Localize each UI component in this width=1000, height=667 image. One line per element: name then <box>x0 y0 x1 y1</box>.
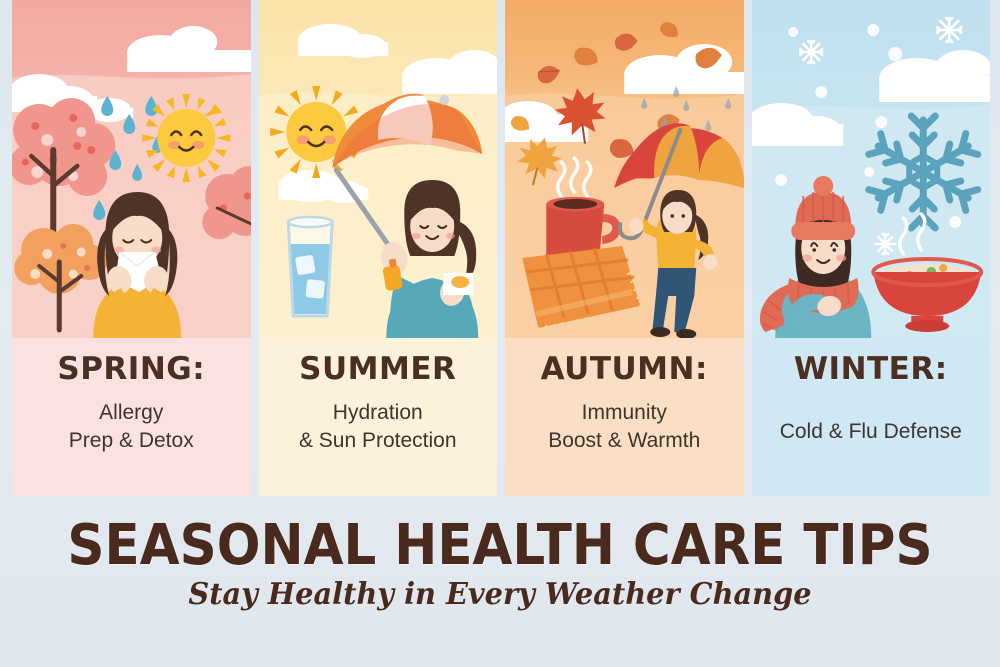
season-desc-autumn-line2: Boost & Warmth <box>548 429 700 452</box>
season-desc-autumn: Immunity Boost & Warmth <box>505 399 744 455</box>
page-title: SEASONAL HEALTH CARE TIPS <box>40 518 960 574</box>
panel-winter: WINTER: Cold & Flu Defense <box>752 0 991 496</box>
seasonal-health-infographic: SPRING: Allergy Prep & Detox <box>0 0 1000 667</box>
summer-caption: SUMMER Hydration & Sun Protection <box>259 338 498 496</box>
summer-illustration <box>259 0 498 338</box>
season-title-summer: SUMMER <box>259 354 498 385</box>
spring-illustration <box>12 0 251 338</box>
panel-spring: SPRING: Allergy Prep & Detox <box>12 0 251 496</box>
title-block: SEASONAL HEALTH CARE TIPS Stay Healthy i… <box>0 496 1000 667</box>
season-desc-winter: Cold & Flu Defense <box>752 418 991 446</box>
season-desc-autumn-line1: Immunity <box>582 401 667 424</box>
season-desc-spring-line1: Allergy <box>99 401 163 424</box>
smiling-sun-icon <box>142 94 230 182</box>
page-subtitle: Stay Healthy in Every Weather Change <box>20 580 980 610</box>
season-desc-spring: Allergy Prep & Detox <box>12 399 251 455</box>
glass-of-ice-water-icon <box>288 217 332 316</box>
autumn-illustration <box>505 0 744 338</box>
season-title-spring: SPRING: <box>12 354 251 385</box>
winter-illustration <box>752 0 991 338</box>
season-title-autumn: AUTUMN: <box>505 354 744 385</box>
season-desc-summer-line1: Hydration <box>333 401 423 424</box>
winter-caption: WINTER: Cold & Flu Defense <box>752 338 991 496</box>
panel-autumn: AUTUMN: Immunity Boost & Warmth <box>505 0 744 496</box>
autumn-caption: AUTUMN: Immunity Boost & Warmth <box>505 338 744 496</box>
panel-summer: SUMMER Hydration & Sun Protection <box>259 0 498 496</box>
season-title-winter: WINTER: <box>752 354 991 385</box>
season-desc-summer: Hydration & Sun Protection <box>259 399 498 455</box>
season-panels: SPRING: Allergy Prep & Detox <box>0 0 1000 496</box>
spring-caption: SPRING: Allergy Prep & Detox <box>12 338 251 496</box>
season-desc-summer-line2: & Sun Protection <box>299 429 457 452</box>
season-desc-spring-line2: Prep & Detox <box>69 429 194 452</box>
